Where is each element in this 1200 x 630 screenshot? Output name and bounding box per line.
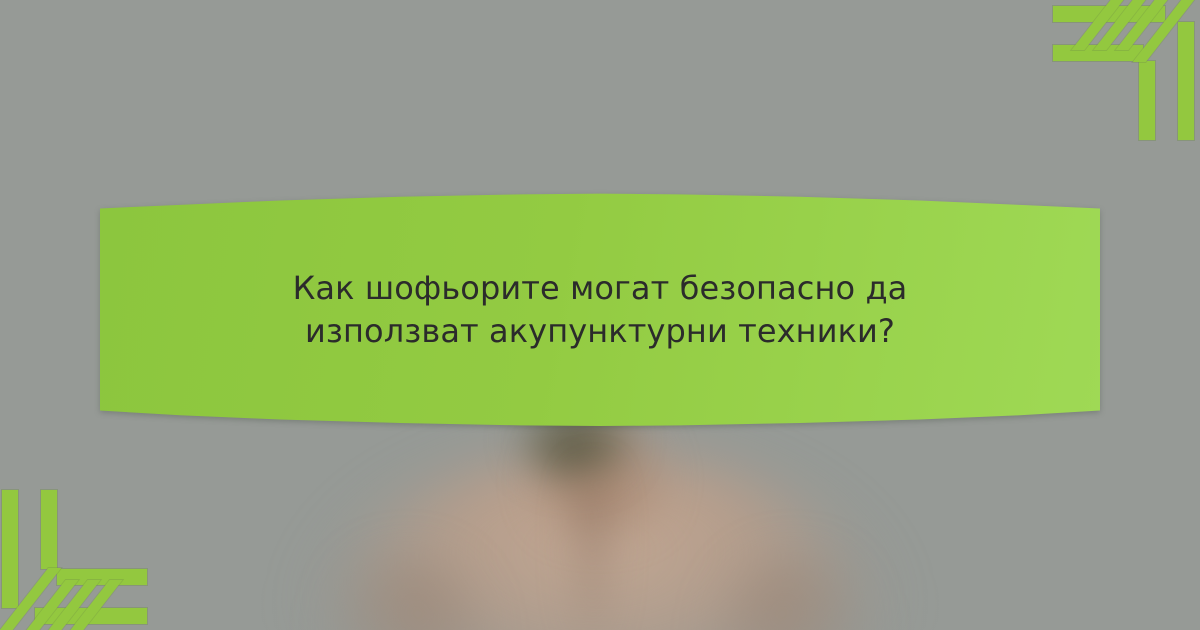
deco-bar-vertical-outer xyxy=(2,490,18,608)
banner-text-area: Как шофьорите могат безопасно да използв… xyxy=(100,192,1100,427)
deco-bar-vertical-inner xyxy=(1139,61,1155,140)
corner-decoration-top-right xyxy=(1025,0,1200,140)
deco-bar-vertical-inner xyxy=(41,490,57,569)
headline-banner: Как шофьорите могат безопасно да използв… xyxy=(100,192,1100,427)
headline-text: Как шофьорите могат безопасно да използв… xyxy=(250,267,950,353)
share-card: Как шофьорите могат безопасно да използв… xyxy=(0,0,1200,630)
corner-decoration-bottom-left xyxy=(0,490,175,630)
deco-bar-vertical-outer xyxy=(1178,22,1194,140)
